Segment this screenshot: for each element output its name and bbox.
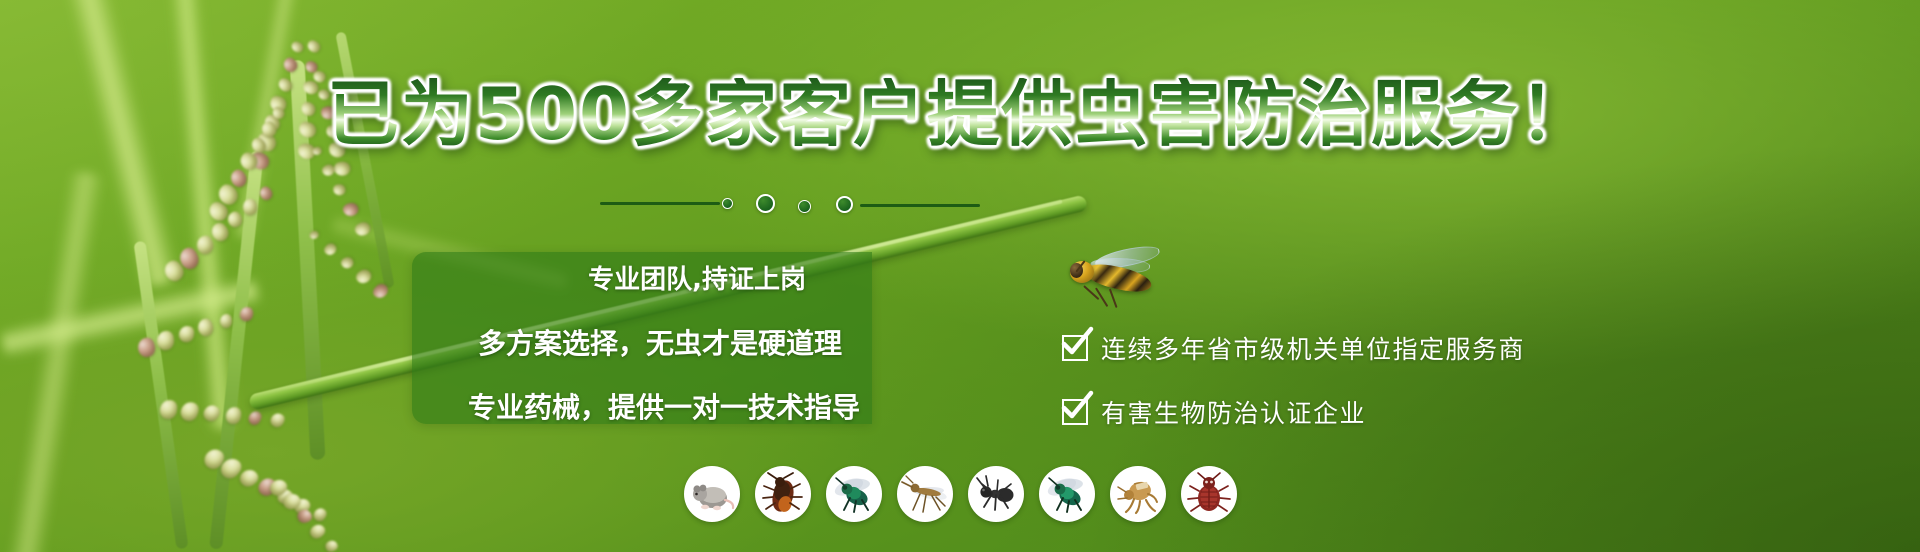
- seed-bud: [156, 330, 175, 351]
- seed-bud: [178, 325, 194, 343]
- seed-bud: [352, 220, 371, 239]
- seed-bud: [226, 209, 245, 229]
- seed-bud: [239, 307, 253, 322]
- seed-bud: [135, 335, 157, 358]
- seed-bud: [159, 399, 178, 420]
- seed-bud: [219, 313, 233, 328]
- page-title: 已为500多家客户提供虫害防治服务！: [0, 78, 1920, 150]
- seed-bud: [268, 411, 286, 429]
- claim-item: 专业团队,持证上岗: [588, 266, 806, 295]
- rodent-icon[interactable]: [684, 466, 740, 522]
- promo-banner: 已为500多家客户提供虫害防治服务！ 专业团队,持证上岗 多方案选择，无虫才是硬…: [0, 0, 1920, 552]
- certification-label: 连续多年省市级机关单位指定服务商: [1101, 330, 1525, 366]
- seed-bud: [242, 197, 260, 216]
- decorative-dot: [798, 200, 811, 213]
- cockroach-icon[interactable]: [755, 466, 811, 522]
- certification-item: 连续多年省市级机关单位指定服务商: [1062, 330, 1525, 366]
- certification-item: 有害生物防治认证企业: [1062, 394, 1525, 430]
- decorative-dot: [722, 198, 733, 209]
- seed-bud: [308, 521, 328, 541]
- divider: [860, 204, 980, 207]
- bedbug-icon[interactable]: [1181, 466, 1237, 522]
- hoverfly-icon: [1050, 245, 1170, 307]
- seed-bud: [296, 508, 314, 525]
- seed-bud: [354, 267, 374, 287]
- flea-icon[interactable]: [1110, 466, 1166, 522]
- claims-list: 专业团队,持证上岗 多方案选择，无虫才是硬道理 专业药械，提供一对一技术指导: [412, 252, 872, 424]
- seed-bud: [312, 507, 328, 524]
- claim-item: 多方案选择，无虫才是硬道理: [478, 329, 842, 360]
- seed-bud: [370, 281, 389, 300]
- seed-bud: [248, 410, 264, 427]
- certification-list: 连续多年省市级机关单位指定服务商 有害生物防治认证企业: [1062, 330, 1525, 430]
- insect-leg: [1109, 289, 1117, 308]
- seed-bud: [179, 399, 201, 423]
- seed-bud: [342, 201, 360, 218]
- ant-icon[interactable]: [968, 466, 1024, 522]
- seed-bud: [195, 234, 215, 255]
- checkbox-checked-icon: [1062, 335, 1088, 361]
- seed-bud: [333, 184, 346, 196]
- mosquito-icon[interactable]: [897, 466, 953, 522]
- seed-bud: [339, 256, 354, 271]
- seed-bud: [257, 185, 274, 203]
- fly-icon[interactable]: [826, 466, 882, 522]
- seed-bud: [201, 403, 222, 424]
- blowfly-icon[interactable]: [1039, 466, 1095, 522]
- decorative-dot: [836, 196, 853, 213]
- claim-item: 专业药械，提供一对一技术指导: [468, 393, 860, 424]
- seed-bud: [322, 241, 338, 258]
- certification-label: 有害生物防治认证企业: [1101, 394, 1366, 430]
- seed-bud: [333, 160, 352, 177]
- divider: [600, 202, 720, 205]
- seed-bud: [225, 407, 242, 425]
- seed-bud: [196, 317, 215, 338]
- checkbox-checked-icon: [1062, 399, 1088, 425]
- pest-icon-row: [684, 466, 1237, 522]
- seed-bud: [308, 229, 321, 241]
- decorative-dot: [756, 194, 775, 213]
- seed-head-cluster-decoration: [110, 140, 440, 540]
